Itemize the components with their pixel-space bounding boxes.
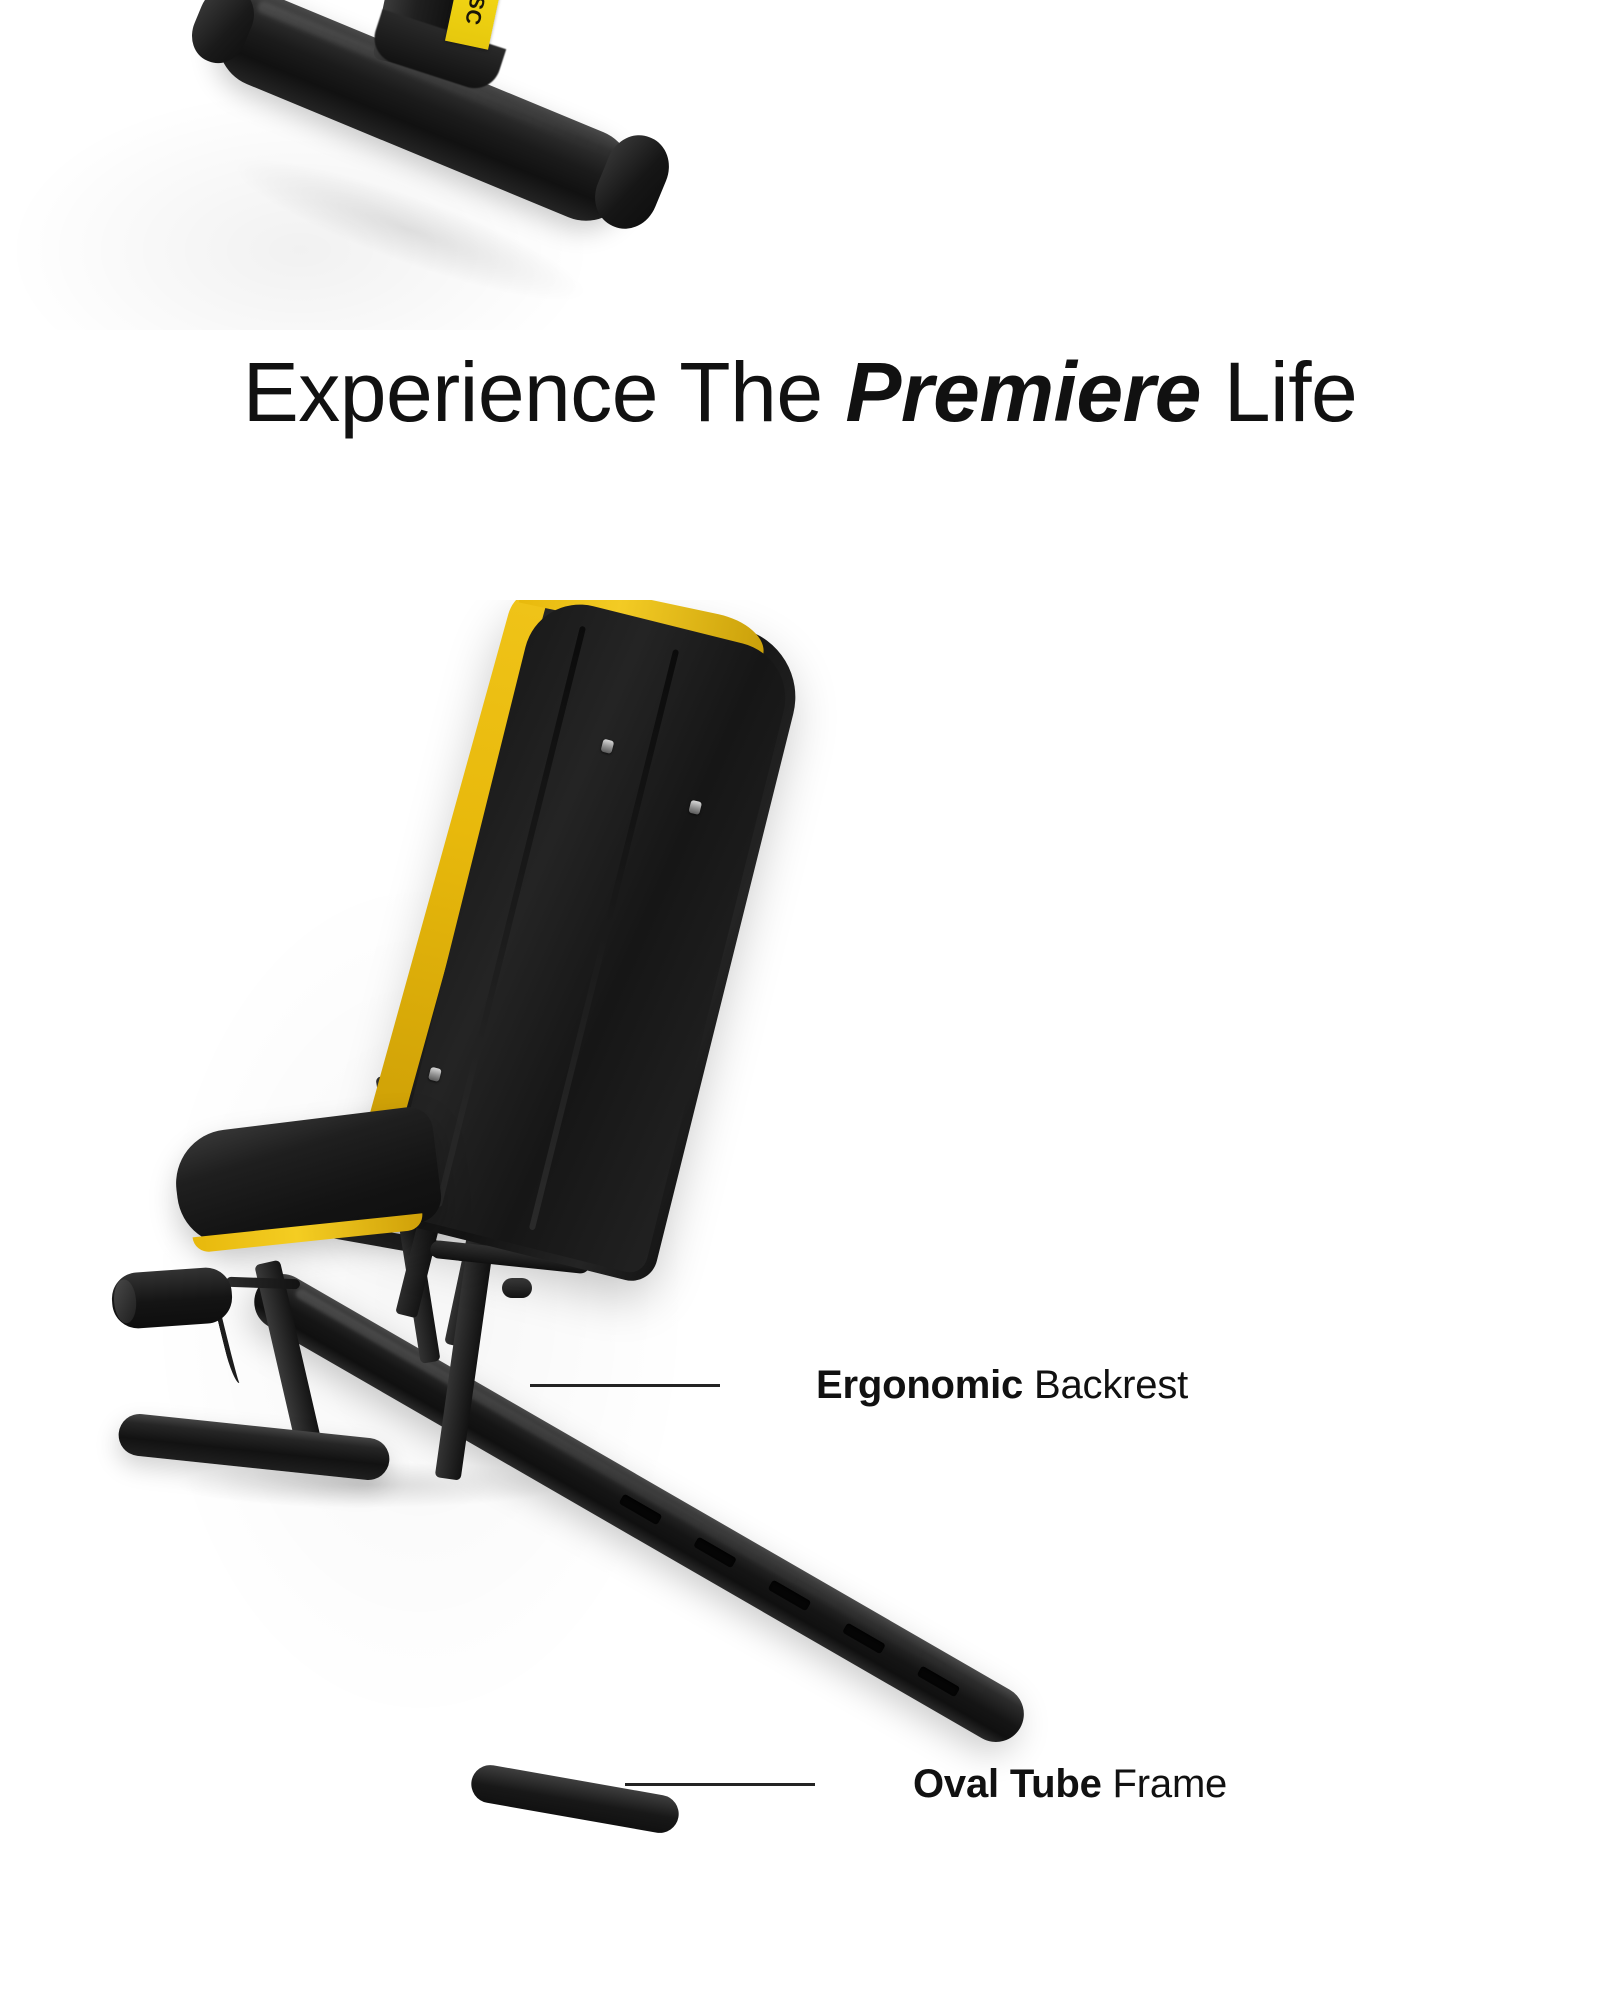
headline-emphasis: Premiere (845, 345, 1201, 439)
sticker-label: SC (459, 0, 489, 27)
top-product-photo: SC (0, 0, 1600, 330)
callout-regular-frame: Frame (1102, 1762, 1227, 1806)
callout-bold-frame: Oval Tube (913, 1762, 1102, 1806)
callout-ergonomic-backrest: Ergonomic Backrest (530, 1363, 1188, 1408)
headline-part1: Experience The (243, 345, 846, 439)
leg-roller-pad (110, 1266, 234, 1330)
adjustment-knob (502, 1278, 532, 1298)
callout-leader-line (530, 1384, 720, 1387)
callout-label-frame: Oval Tube Frame (913, 1762, 1227, 1807)
headline-part2: Life (1201, 345, 1357, 439)
page-headline: Experience The Premiere Life (0, 350, 1600, 434)
callout-oval-tube-frame: Oval Tube Frame (625, 1762, 1227, 1807)
callout-leader-line (625, 1783, 815, 1786)
callout-bold-backrest: Ergonomic (816, 1363, 1023, 1407)
callout-label-backrest: Ergonomic Backrest (816, 1363, 1188, 1408)
callout-regular-backrest: Backrest (1023, 1363, 1188, 1407)
product-feature-page: SC Experience The Premiere Life (0, 0, 1600, 2000)
